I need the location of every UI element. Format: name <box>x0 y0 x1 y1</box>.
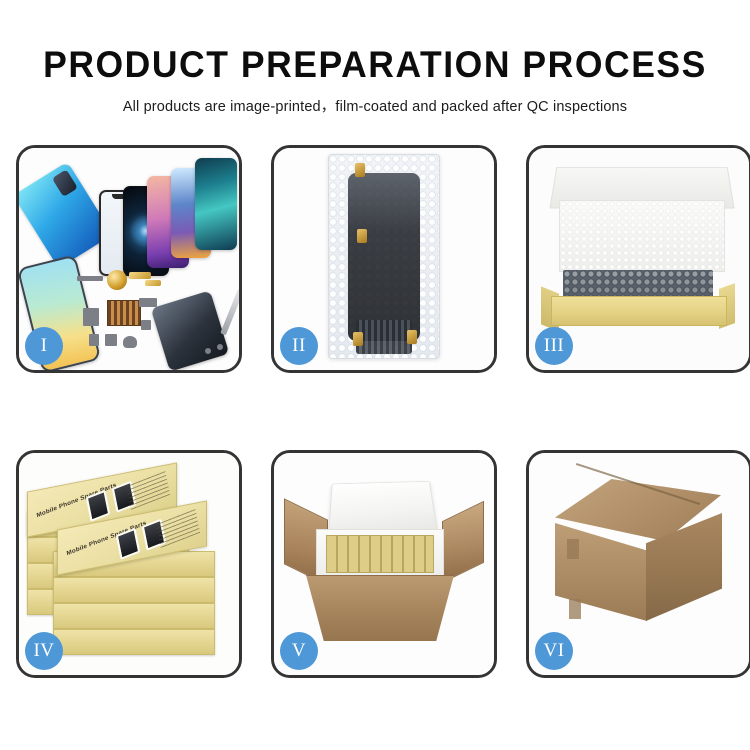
page-title: PRODUCT PREPARATION PROCESS <box>15 46 735 83</box>
carton-tape-icon <box>569 599 581 619</box>
box-spec-lines-icon <box>156 508 200 548</box>
bubble-wrap-bag-icon <box>328 154 440 359</box>
gold-tab-icon <box>407 330 417 344</box>
small-chip-icon <box>89 334 99 346</box>
camera-module-icon <box>105 334 117 346</box>
panel-badge-5: V <box>280 632 318 670</box>
box-stack-icon: Mobile Phone Spare Parts Mobile Phone Sp… <box>27 467 227 663</box>
process-panel-4: Mobile Phone Spare Parts Mobile Phone Sp… <box>16 450 242 678</box>
stacked-box-layer <box>53 629 215 655</box>
panel-badge-1: I <box>25 327 63 365</box>
product-preparation-process-page: PRODUCT PREPARATION PROCESS All products… <box>0 0 750 750</box>
teal-gradient-phone-icon <box>195 158 237 250</box>
logic-board-icon <box>107 300 141 326</box>
speaker-icon <box>123 336 137 348</box>
vibration-motor-icon <box>107 270 127 290</box>
stacked-box-layer <box>53 603 215 629</box>
carton-tape-icon <box>567 539 579 559</box>
gold-tab-icon <box>355 163 365 177</box>
foam-sheet-icon <box>559 200 725 272</box>
screwdriver-icon <box>220 289 239 336</box>
panel-badge-4: IV <box>25 632 63 670</box>
panel-badge-3: III <box>535 327 573 365</box>
flex-cable-icon <box>83 308 99 326</box>
process-panel-2: II <box>271 145 497 373</box>
process-panel-grid: I II <box>16 145 734 678</box>
gold-tab-icon <box>353 332 363 346</box>
earpiece-mesh-icon <box>77 276 103 281</box>
process-panel-5: V <box>271 450 497 678</box>
box-window-icon <box>86 490 111 522</box>
screw-icon <box>205 348 211 354</box>
yellow-boxes-inside-icon <box>326 535 434 573</box>
ic-chip-icon <box>141 320 151 330</box>
gold-tab-icon <box>357 229 367 243</box>
page-subtitle: All products are image-printed，film-coat… <box>0 95 750 116</box>
process-panel-6: VI <box>526 450 750 678</box>
screw-icon <box>217 344 223 350</box>
panel-badge-2: II <box>280 327 318 365</box>
process-panel-3: III <box>526 145 750 373</box>
wrapped-flex-cable-icon <box>356 320 412 354</box>
bubble-wrapped-contents-icon <box>563 270 713 298</box>
gold-connector-icon <box>145 280 161 286</box>
carton-right-flap-icon <box>442 501 484 583</box>
opened-phone-chassis-icon <box>151 290 230 370</box>
page-header: PRODUCT PREPARATION PROCESS All products… <box>0 0 750 116</box>
wrapped-phone-part-icon <box>348 173 420 341</box>
box-window-icon <box>116 528 141 560</box>
connector-icon <box>139 298 157 307</box>
panel-badge-6: VI <box>535 632 573 670</box>
gold-flex-strip-icon <box>129 272 151 279</box>
box-front-panel-icon <box>551 296 727 326</box>
process-panel-1: I <box>16 145 242 373</box>
box-spec-lines-icon <box>126 470 170 510</box>
stacked-box-layer <box>53 577 215 603</box>
carton-front-icon <box>306 575 454 641</box>
